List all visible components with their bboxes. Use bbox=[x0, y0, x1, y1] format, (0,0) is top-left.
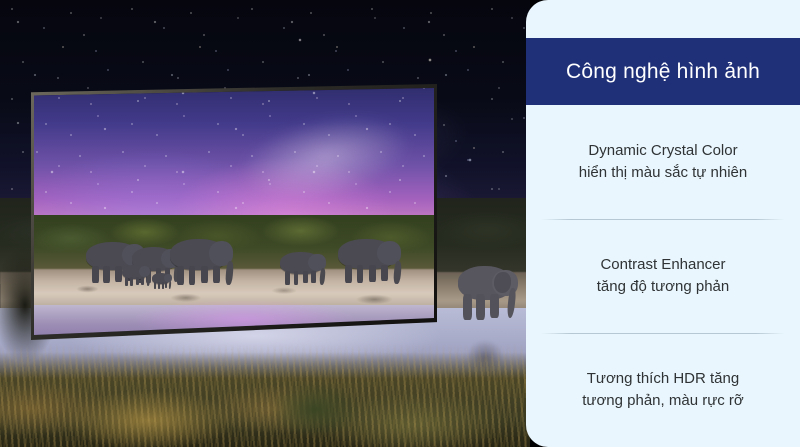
panel-header: Công nghệ hình ảnh bbox=[526, 38, 800, 105]
product-photo-scene bbox=[0, 0, 530, 447]
screen-elephant bbox=[338, 239, 396, 269]
foreground-shrub bbox=[250, 372, 380, 447]
feature-list: Dynamic Crystal Color hiển thị màu sắc t… bbox=[526, 105, 800, 447]
screen-elephant-calf bbox=[122, 265, 148, 279]
screen-elephant bbox=[280, 252, 322, 274]
elephant-legs bbox=[125, 277, 145, 286]
elephant-ear bbox=[494, 272, 511, 293]
feature-text: Contrast Enhancer tăng độ tương phản bbox=[597, 254, 729, 298]
elephant-legs bbox=[285, 271, 318, 285]
television bbox=[31, 84, 437, 340]
elephant-legs bbox=[154, 282, 168, 289]
feature-line-1: Contrast Enhancer bbox=[600, 256, 725, 273]
feature-item-hdr: Tương thích HDR tăng tương phản, màu rực… bbox=[526, 333, 800, 447]
feature-line-2: tăng độ tương phản bbox=[597, 278, 729, 295]
screen-elephant-herd bbox=[34, 87, 434, 337]
feature-line-1: Dynamic Crystal Color bbox=[588, 142, 737, 159]
feature-line-2: hiển thị màu sắc tự nhiên bbox=[579, 164, 747, 181]
background-elephant bbox=[452, 262, 518, 328]
feature-text: Tương thích HDR tăng tương phản, màu rực… bbox=[582, 368, 743, 412]
feature-item-dynamic-crystal-color: Dynamic Crystal Color hiển thị màu sắc t… bbox=[526, 105, 800, 219]
tv-screen bbox=[34, 87, 434, 337]
feature-item-contrast-enhancer: Contrast Enhancer tăng độ tương phản bbox=[526, 219, 800, 333]
feature-line-2: tương phản, màu rực rỡ bbox=[582, 392, 743, 409]
feature-text: Dynamic Crystal Color hiển thị màu sắc t… bbox=[579, 140, 747, 184]
screen-elephant bbox=[170, 239, 228, 270]
elephant-legs bbox=[177, 266, 222, 285]
promotional-banner: Công nghệ hình ảnh Dynamic Crystal Color… bbox=[0, 0, 800, 447]
elephant-leg bbox=[463, 294, 472, 320]
panel-title: Công nghệ hình ảnh bbox=[566, 60, 760, 83]
elephant-legs bbox=[345, 265, 390, 284]
elephant-leg bbox=[476, 294, 485, 320]
screen-elephant-calf bbox=[152, 273, 170, 284]
elephant-leg bbox=[490, 294, 499, 318]
feature-line-1: Tương thích HDR tăng bbox=[587, 370, 739, 387]
feature-panel: Công nghệ hình ảnh Dynamic Crystal Color… bbox=[526, 0, 800, 447]
